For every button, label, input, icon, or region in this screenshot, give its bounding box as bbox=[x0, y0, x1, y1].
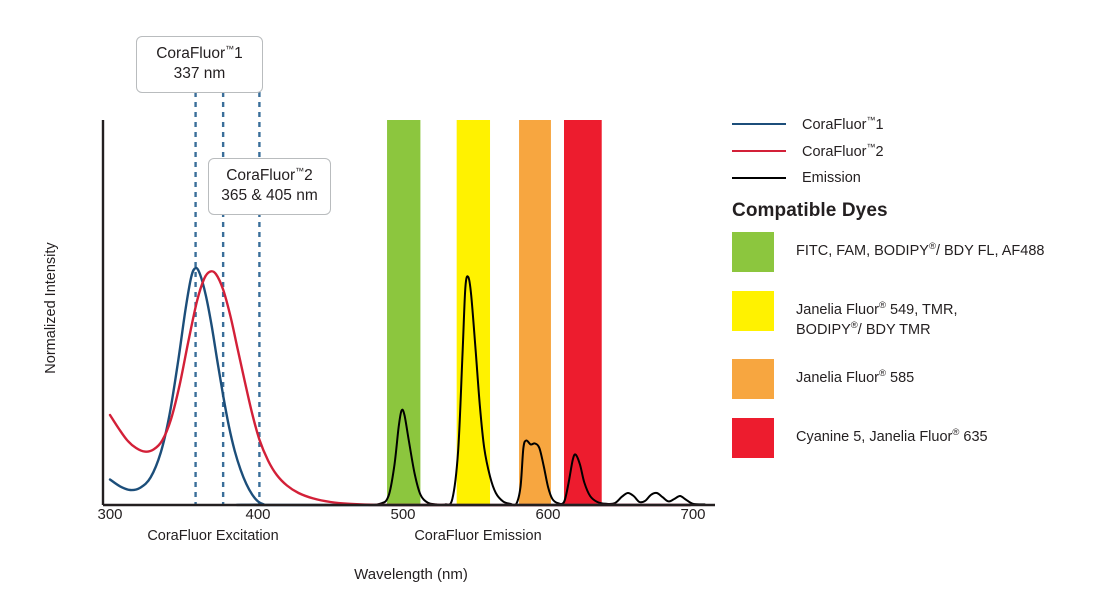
legend-line-swatch bbox=[732, 177, 786, 179]
registered-symbol: ® bbox=[952, 427, 959, 438]
series-legend: CoraFluor™1CoraFluor™2Emission bbox=[732, 110, 1102, 191]
chart-area: CoraFluor™1 337 nm CoraFluor™2 365 & 405… bbox=[0, 0, 730, 612]
callout-1-line2: 337 nm bbox=[147, 64, 252, 84]
green-band bbox=[387, 120, 420, 505]
legend-line-swatch bbox=[732, 123, 786, 125]
callout-2-line1: CoraFluor™2 bbox=[226, 167, 313, 184]
registered-symbol: ® bbox=[929, 241, 936, 252]
dye-list-item: Janelia Fluor® 549, TMR, BODIPY®/ BDY TM… bbox=[732, 291, 1110, 340]
dye-label: Janelia Fluor® 585 bbox=[796, 359, 914, 388]
dye-color-swatch bbox=[732, 232, 774, 272]
dye-label: Janelia Fluor® 549, TMR, BODIPY®/ BDY TM… bbox=[796, 291, 957, 340]
x-axis-label: Wavelength (nm) bbox=[291, 566, 531, 583]
x-tick-300: 300 bbox=[97, 506, 122, 523]
legend-line-swatch bbox=[732, 150, 786, 152]
callout-corafluor1: CoraFluor™1 337 nm bbox=[136, 36, 263, 93]
registered-symbol: ® bbox=[851, 320, 858, 331]
x-tick-700: 700 bbox=[680, 506, 705, 523]
x-tick-500: 500 bbox=[390, 506, 415, 523]
legend-item-label: CoraFluor™2 bbox=[802, 142, 884, 160]
registered-symbol: ® bbox=[879, 368, 886, 379]
dye-color-swatch bbox=[732, 291, 774, 331]
red-band bbox=[564, 120, 602, 505]
dye-label: Cyanine 5, Janelia Fluor® 635 bbox=[796, 418, 988, 447]
legend-item: CoraFluor™2 bbox=[732, 137, 1102, 164]
compatible-dyes-heading: Compatible Dyes bbox=[732, 200, 888, 222]
y-axis-label: Normalized Intensity bbox=[43, 213, 59, 403]
legend-item: CoraFluor™1 bbox=[732, 110, 1102, 137]
dye-list-item: Cyanine 5, Janelia Fluor® 635 bbox=[732, 418, 1110, 458]
trademark-symbol: ™ bbox=[295, 166, 304, 176]
dye-label: FITC, FAM, BODIPY®/ BDY FL, AF488 bbox=[796, 232, 1044, 261]
dye-list-item: FITC, FAM, BODIPY®/ BDY FL, AF488 bbox=[732, 232, 1110, 272]
x-tick-600: 600 bbox=[535, 506, 560, 523]
callout-1-line1: CoraFluor™1 bbox=[156, 45, 243, 62]
callout-2-line2: 365 & 405 nm bbox=[219, 186, 320, 206]
side-panel: CoraFluor™1CoraFluor™2Emission Compatibl… bbox=[730, 0, 1110, 612]
x-tick-400: 400 bbox=[245, 506, 270, 523]
legend-item: Emission bbox=[732, 164, 1102, 191]
registered-symbol: ® bbox=[879, 300, 886, 311]
legend-item-label: Emission bbox=[802, 170, 861, 186]
trademark-symbol: ™ bbox=[225, 44, 234, 54]
dye-list-item: Janelia Fluor® 585 bbox=[732, 359, 1110, 399]
excitation-span-label: CoraFluor Excitation bbox=[147, 528, 278, 544]
compatible-dyes-list: FITC, FAM, BODIPY®/ BDY FL, AF488Janelia… bbox=[732, 232, 1110, 477]
dye-color-swatch bbox=[732, 418, 774, 458]
callout-corafluor2: CoraFluor™2 365 & 405 nm bbox=[208, 158, 331, 215]
emission-span-label: CoraFluor Emission bbox=[414, 528, 541, 544]
legend-item-label: CoraFluor™1 bbox=[802, 115, 884, 133]
dye-color-swatch bbox=[732, 359, 774, 399]
series-curve-emission bbox=[284, 276, 705, 505]
spectra-chart-page: CoraFluor™1 337 nm CoraFluor™2 365 & 405… bbox=[0, 0, 1110, 612]
